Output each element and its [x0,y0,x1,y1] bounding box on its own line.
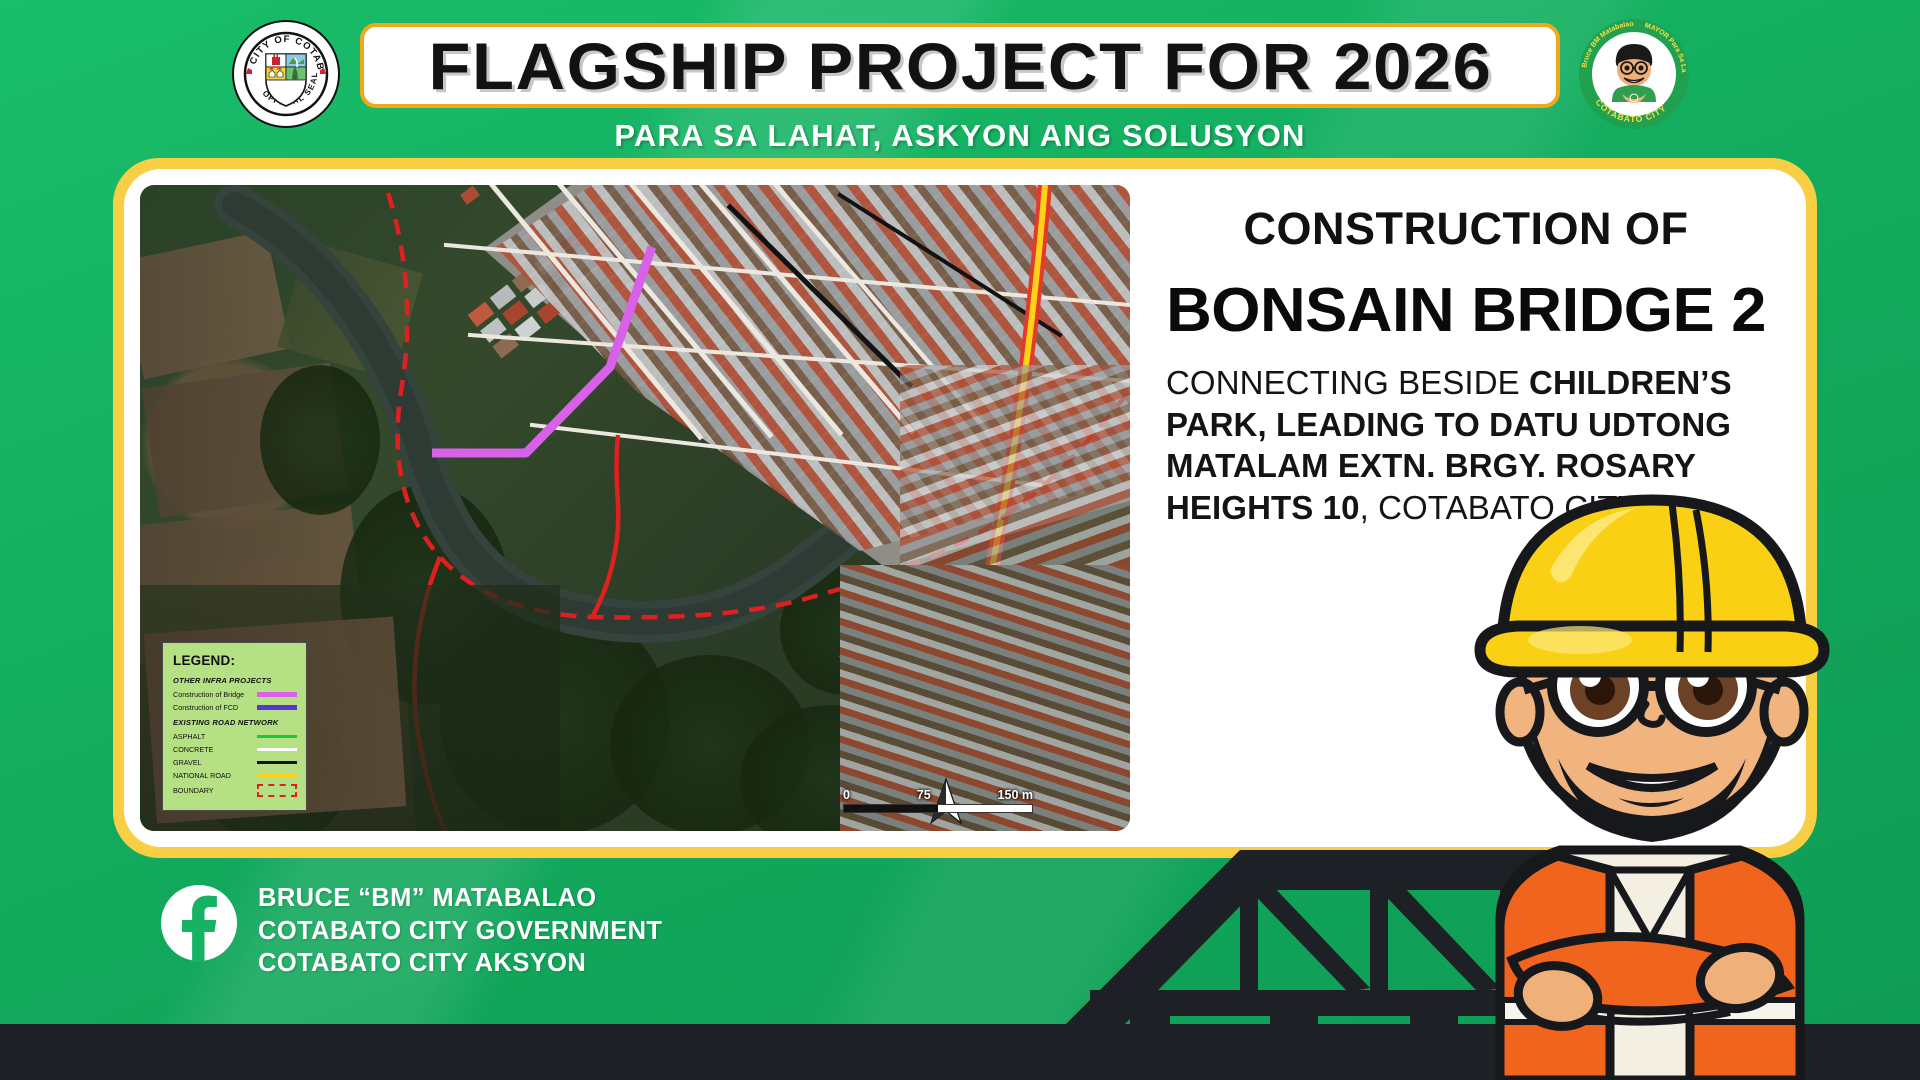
legend-item-bridge: Construction of Bridge [173,690,297,699]
engineer-mascot-icon [1440,400,1860,1080]
city-of-cotabato-seal-icon: CITY OF COTABATO OFFICIAL SEAL [232,20,340,128]
footer: BRUCE “BM” MATABALAO COTABATO CITY GOVER… [160,880,860,1000]
legend-title: LEGEND: [173,653,297,668]
legend-swatch-fcd [257,705,297,710]
scale-min: 0 [843,788,850,802]
legend-item-concrete: CONCRETE [173,745,297,754]
legend-group-infra: OTHER INFRA PROJECTS [173,676,297,685]
legend-label-boundary: BOUNDARY [173,786,214,795]
legend-swatch-boundary [257,784,297,797]
legend-item-asphalt: ASPHALT [173,732,297,741]
mayor-badge-icon: Bruce BM Matabalao MAYOR Para Sa Lahat C… [1578,18,1690,130]
desc-part1: CONNECTING BESIDE [1166,364,1529,401]
project-heading-line1: CONSTRUCTION OF [1166,203,1766,255]
legend-label-asphalt: ASPHALT [173,732,205,741]
facebook-icon[interactable] [160,884,238,962]
footer-text-block: BRUCE “BM” MATABALAO COTABATO CITY GOVER… [258,882,662,980]
legend-group-roads: EXISTING ROAD NETWORK [173,718,297,727]
header: CITY OF COTABATO OFFICIAL SEAL FLAGSHIP … [0,0,1920,175]
legend-swatch-bridge [257,692,297,697]
legend-label-national-road: NATIONAL ROAD [173,771,231,780]
legend-item-fcd: Construction of FCD [173,703,297,712]
legend-item-national-road: NATIONAL ROAD [173,771,297,780]
map-legend: LEGEND: OTHER INFRA PROJECTS Constructio… [162,642,307,811]
scale-mid: 75 [917,788,931,802]
footer-line-3: COTABATO CITY AKSYON [258,947,662,980]
legend-swatch-concrete [257,748,297,751]
legend-label-fcd: Construction of FCD [173,703,238,712]
legend-swatch-national-road [257,774,297,777]
legend-item-gravel: GRAVEL [173,758,297,767]
legend-swatch-gravel [257,761,297,764]
title-plate: FLAGSHIP PROJECT FOR 2026 [360,23,1560,108]
legend-label-gravel: GRAVEL [173,758,202,767]
project-heading-line2: BONSAIN BRIDGE 2 [1160,275,1772,346]
legend-label-bridge: Construction of Bridge [173,690,244,699]
footer-line-2: COTABATO CITY GOVERNMENT [258,915,662,948]
legend-item-boundary: BOUNDARY [173,784,297,797]
legend-label-concrete: CONCRETE [173,745,213,754]
footer-line-1: BRUCE “BM” MATABALAO [258,882,662,915]
legend-swatch-asphalt [257,735,297,738]
page-title: FLAGSHIP PROJECT FOR 2026 [428,28,1492,104]
project-location-map[interactable]: LEGEND: OTHER INFRA PROJECTS Constructio… [140,185,1130,831]
